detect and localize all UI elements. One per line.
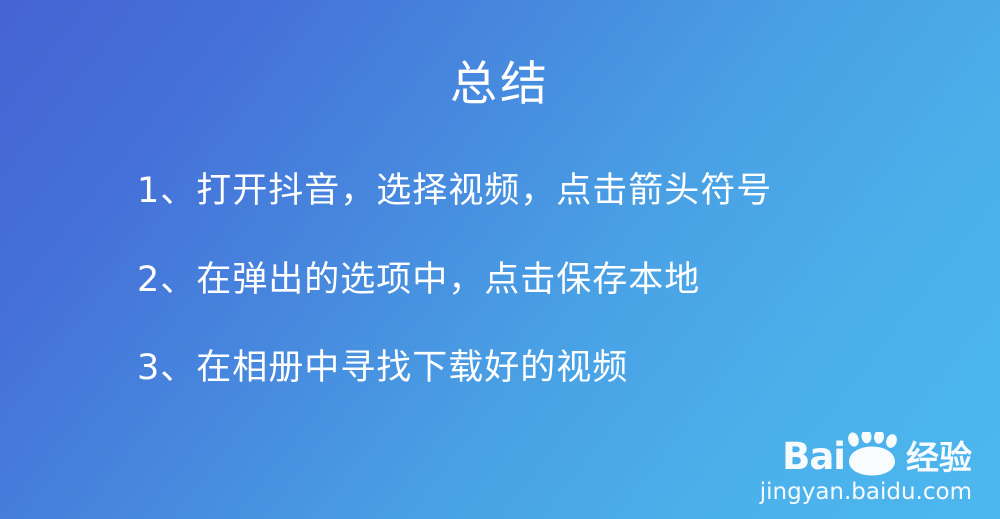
baidu-paw-icon: du	[843, 432, 901, 476]
baidu-logo: Bai du 经验	[732, 432, 972, 476]
summary-steps-list: 1、打开抖音，选择视频，点击箭头符号 2、在弹出的选项中，点击保存本地 3、在相…	[137, 172, 957, 388]
watermark-url: jingyan.baidu.com	[732, 479, 972, 505]
list-item: 3、在相册中寻找下载好的视频	[137, 349, 957, 388]
baidu-jingyan-watermark: Bai du 经验 jingyan.baidu.com	[732, 432, 972, 505]
list-item: 2、在弹出的选项中，点击保存本地	[137, 261, 957, 300]
page-title: 总结	[0, 59, 1000, 111]
baidu-logo-paw-text: du	[843, 450, 901, 472]
presentation-slide: 总结 1、打开抖音，选择视频，点击箭头符号 2、在弹出的选项中，点击保存本地 3…	[0, 0, 1000, 519]
baidu-logo-latin-text: Bai	[782, 438, 845, 475]
list-item: 1、打开抖音，选择视频，点击箭头符号	[137, 172, 957, 211]
baidu-logo-cn-text: 经验	[906, 441, 972, 474]
